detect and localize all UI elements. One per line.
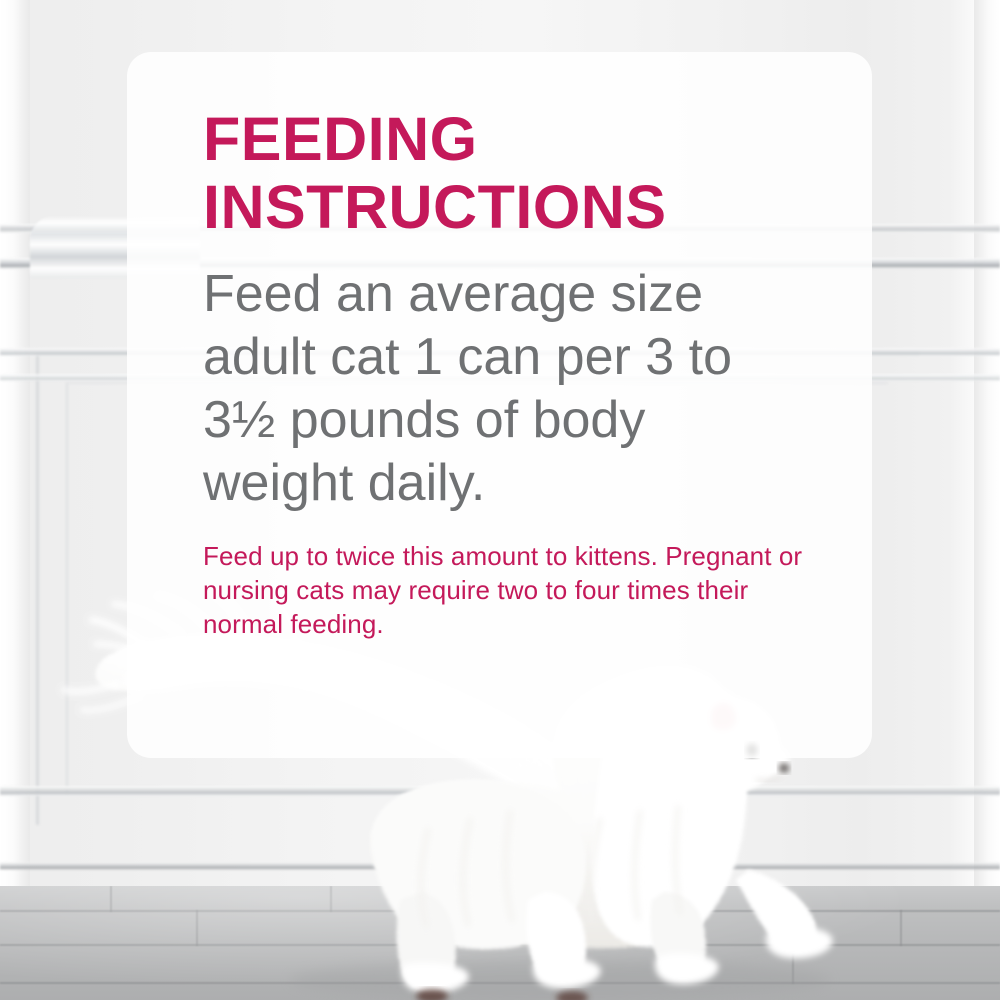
feeding-body-text: Feed an average size adult cat 1 can per… <box>203 263 803 515</box>
feeding-instructions-panel: FEEDING INSTRUCTIONS Feed an average siz… <box>0 0 1000 1000</box>
page-title: FEEDING INSTRUCTIONS <box>203 105 832 241</box>
feeding-note-text: Feed up to twice this amount to kittens.… <box>203 539 832 641</box>
instructions-card: FEEDING INSTRUCTIONS Feed an average siz… <box>127 52 872 758</box>
